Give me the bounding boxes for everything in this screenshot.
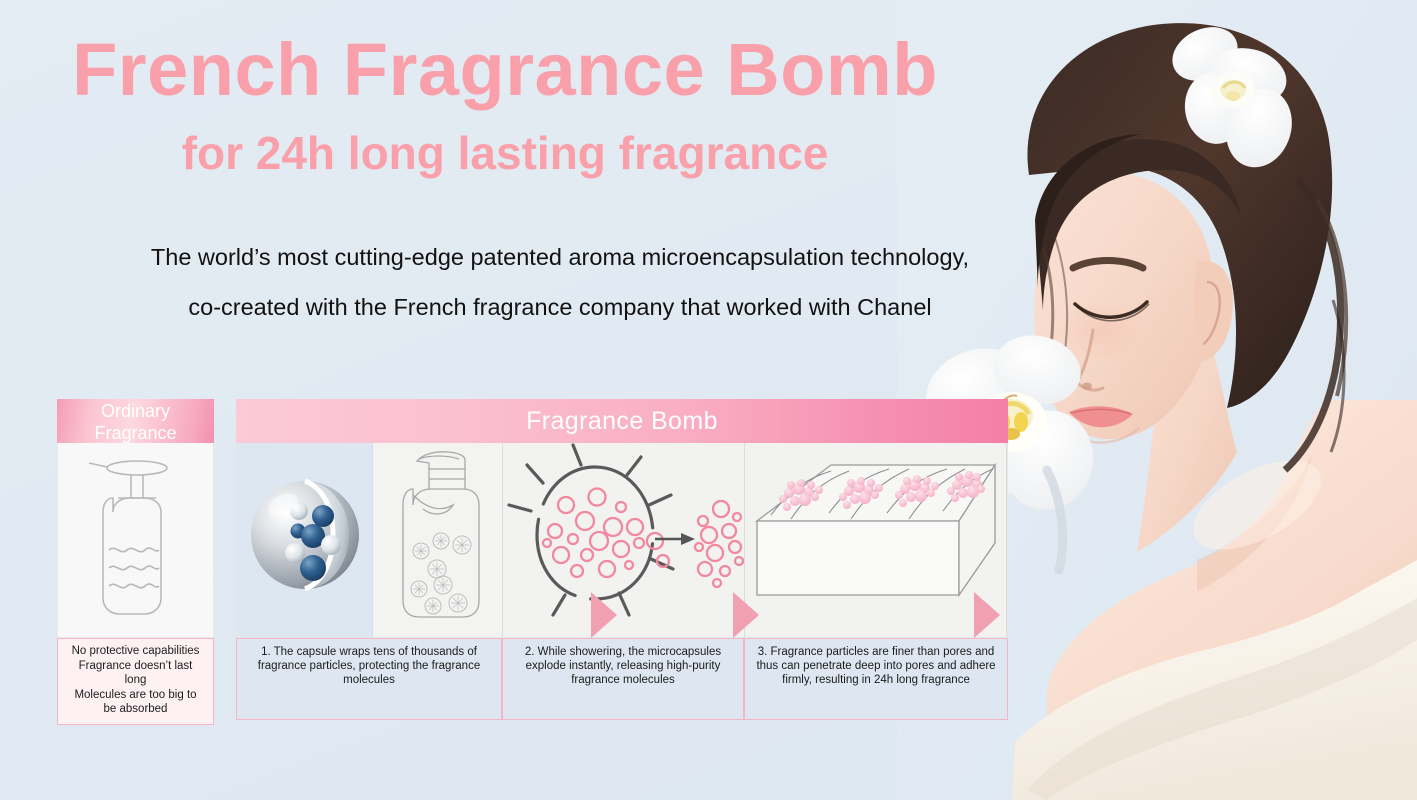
lead-line-1: The world’s most cutting-edge patented a… — [40, 232, 1080, 282]
ordinary-header-line-1: Ordinary — [94, 400, 176, 422]
pump-bottle-with-microcapsules-illustration — [373, 443, 503, 637]
ordinary-header-line-2: Fragrance — [94, 422, 176, 444]
page-subtitle: for 24h long lasting fragrance — [0, 126, 1010, 180]
step-1-caption: 1. The capsule wraps tens of thousands o… — [236, 638, 502, 720]
fragrance-bomb-header: Fragrance Bomb — [236, 399, 1008, 443]
skin-block-pores-illustration — [745, 443, 1007, 637]
capsule-sphere-illustration — [237, 443, 373, 637]
step-arrow-2-icon — [733, 592, 759, 638]
bursting-capsule-illustration — [503, 443, 745, 637]
step-2-caption: 2. While showering, the microcapsules ex… — [502, 638, 744, 720]
ordinary-caption-line-3: Molecules are too big to — [62, 688, 209, 703]
promo-banner: French Fragrance Bomb for 24h long lasti… — [0, 0, 1417, 800]
pump-bottle-with-waves-icon — [71, 450, 201, 630]
fragrance-bomb-panel: Fragrance Bomb — [236, 399, 1008, 720]
ordinary-caption-line-0: No protective capabilities — [62, 644, 209, 659]
ordinary-caption-line-2: long — [62, 673, 209, 688]
step-3-caption: 3. Fragrance particles are finer than po… — [744, 638, 1008, 720]
ordinary-caption: No protective capabilities Fragrance doe… — [57, 638, 214, 725]
lead-line-2: co-created with the French fragrance com… — [40, 282, 1080, 332]
step-arrow-3-icon — [974, 592, 1000, 638]
page-title: French Fragrance Bomb — [0, 30, 1010, 110]
ordinary-fragrance-header: Ordinary Fragrance — [57, 399, 214, 443]
ordinary-caption-line-1: Fragrance doesn’t last — [62, 659, 209, 674]
fragrance-bomb-caption-row: 1. The capsule wraps tens of thousands o… — [236, 638, 1008, 720]
ordinary-illustration-area — [57, 443, 214, 638]
fragrance-bomb-illustration-row — [236, 443, 1008, 638]
lead-paragraph: The world’s most cutting-edge patented a… — [40, 232, 1080, 332]
ordinary-caption-line-4: be absorbed — [62, 702, 209, 717]
step-arrow-1-icon — [591, 592, 617, 638]
ordinary-fragrance-panel: Ordinary Fragrance No protective capabi — [57, 399, 214, 725]
